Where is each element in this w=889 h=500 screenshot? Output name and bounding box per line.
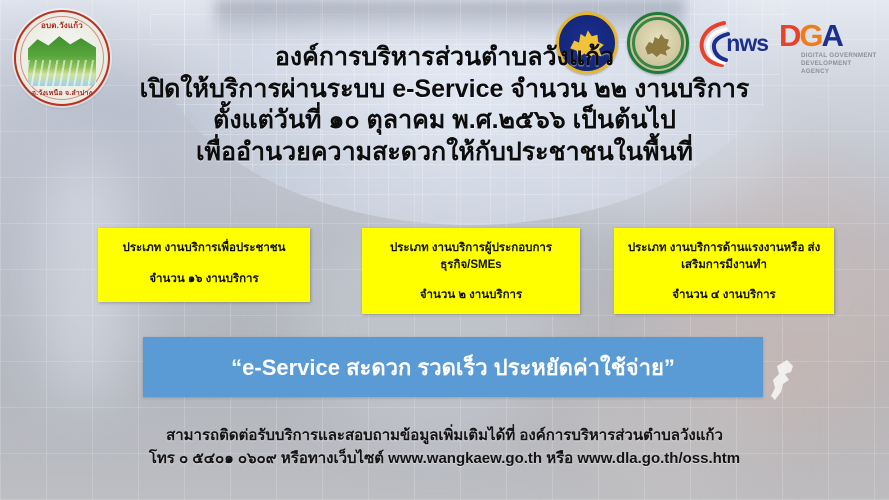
headline-block: องค์การบริหารส่วนตำบลวังแก้ว เปิดให้บริก…: [0, 42, 889, 168]
service-category-box-citizen: ประเภท งานบริการเพื่อประชาชน จำนวน ๑๖ งา…: [98, 228, 310, 302]
category-count: จำนวน ๒ งานบริการ: [370, 287, 572, 304]
service-category-box-labor: ประเภท งานบริการด้านแรงงานหรือ ส่งเสริมก…: [614, 228, 834, 314]
slogan-text: “e-Service สะดวก รวดเร็ว ประหยัดค่าใช้จ่…: [231, 350, 675, 385]
headline-line-4: เพื่ออำนวยความสะดวกให้กับประชาชนในพื้นที…: [0, 137, 889, 169]
footer-line-2: โทร ๐ ๕๔๐๑ ๐๖๐๙ หรือทางเว็บไซต์ www.wang…: [0, 447, 889, 470]
footer-contact-block: สามารถติดต่อรับบริการและสอบถามข้อมูลเพิ่…: [0, 424, 889, 471]
headline-line-1: องค์การบริหารส่วนตำบลวังแก้ว: [0, 42, 889, 74]
headline-line-2: เปิดให้บริการผ่านระบบ e-Service จำนวน ๒๒…: [0, 74, 889, 106]
category-count: จำนวน ๔ งานบริการ: [622, 287, 826, 304]
eservice-announcement-poster: อบต.วังแก้ว อ.วังเหนือ จ.ลำปาง nws DGA D…: [0, 0, 889, 500]
seal-top-text: อบต.วังแก้ว: [16, 19, 108, 32]
category-count: จำนวน ๑๖ งานบริการ: [106, 271, 302, 288]
map-outline-icon: [767, 358, 801, 404]
service-category-box-business-sme: ประเภท งานบริการผู้ประกอบการ ธุรกิจ/SMEs…: [362, 228, 580, 314]
slogan-banner: “e-Service สะดวก รวดเร็ว ประหยัดค่าใช้จ่…: [143, 337, 763, 397]
headline-line-3: ตั้งแต่วันที่ ๑๐ ตุลาคม พ.ศ.๒๕๖๖ เป็นต้น…: [0, 105, 889, 137]
category-title: ประเภท งานบริการเพื่อประชาชน: [106, 240, 302, 257]
category-title: ประเภท งานบริการผู้ประกอบการ ธุรกิจ/SMEs: [370, 240, 572, 273]
category-title: ประเภท งานบริการด้านแรงงานหรือ ส่งเสริมก…: [622, 240, 826, 273]
footer-line-1: สามารถติดต่อรับบริการและสอบถามข้อมูลเพิ่…: [0, 424, 889, 447]
